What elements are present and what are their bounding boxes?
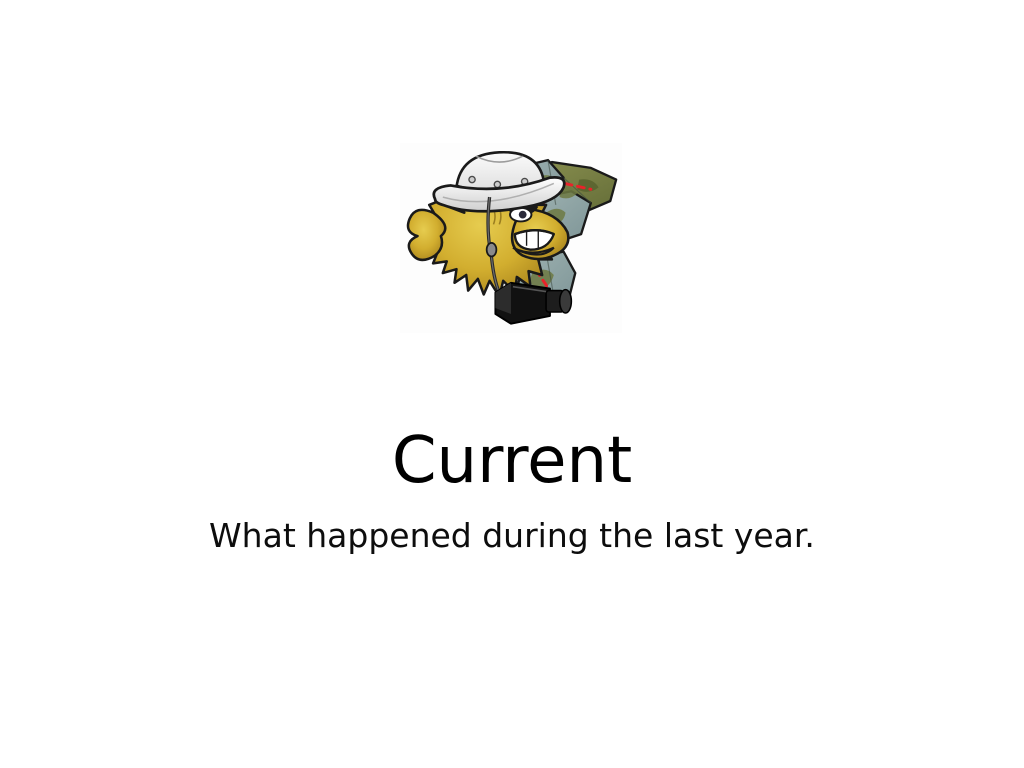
slide-subtitle: What happened during the last year. [0, 519, 1024, 552]
camera-lens-front [560, 290, 572, 313]
camera-strap-buckle [487, 243, 497, 257]
slide-title: Current [0, 429, 1024, 493]
puffer-eye-pupil [519, 211, 527, 219]
puffy-tourist-mascot-image [400, 143, 622, 333]
puffer-left-fin [408, 210, 445, 260]
puffy-tourist-illustration [400, 143, 622, 333]
presentation-slide: Current What happened during the last ye… [0, 0, 1024, 768]
